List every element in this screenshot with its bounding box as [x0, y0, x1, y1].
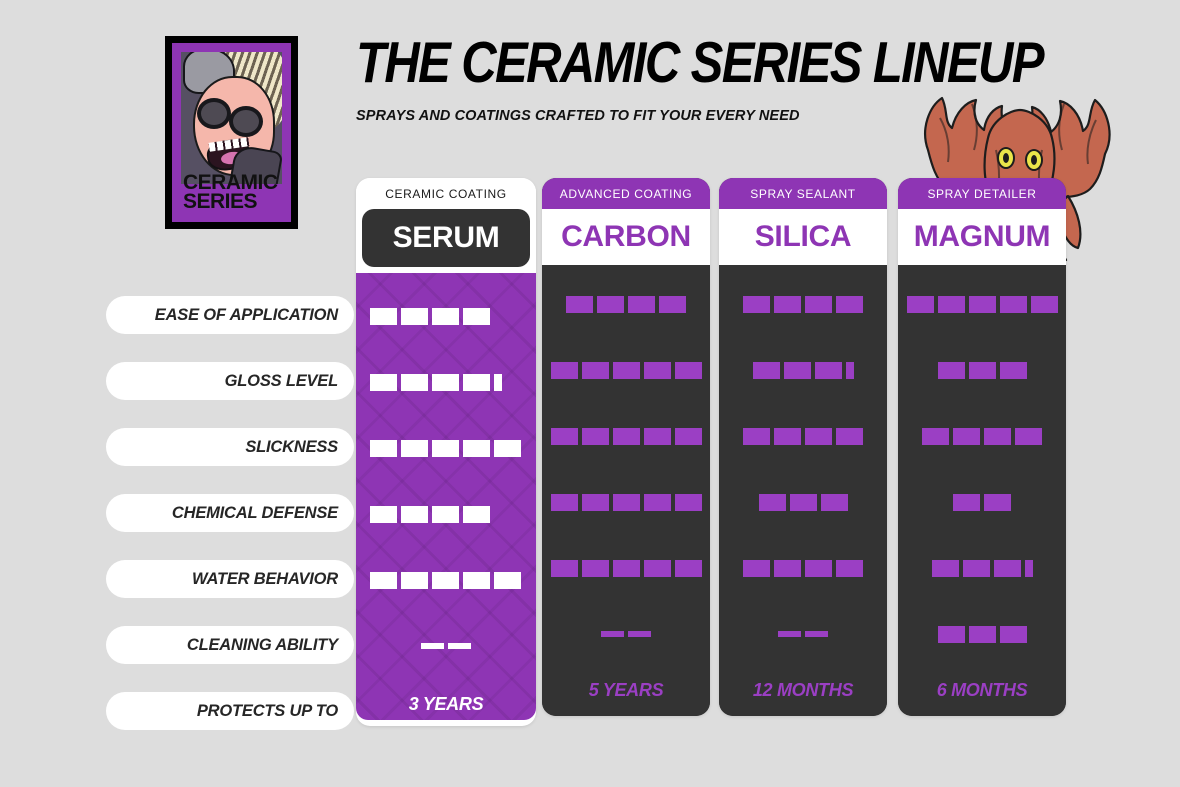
rating-block	[774, 296, 801, 313]
rating-block	[370, 440, 397, 457]
rating-block	[1015, 428, 1042, 445]
rating-block	[805, 560, 832, 577]
rating-block	[836, 428, 863, 445]
rating-block	[401, 374, 428, 391]
product-name-magnum: MAGNUM	[898, 209, 1066, 265]
rating-block	[836, 296, 863, 313]
product-ratings-serum: 3 YEARS	[356, 273, 536, 720]
rating-block	[644, 428, 671, 445]
rating-block	[370, 308, 397, 325]
rating-silica-ease-of-application	[719, 285, 887, 323]
rating-block	[644, 494, 671, 511]
rating-block	[628, 296, 655, 313]
product-name-silica: SILICA	[719, 209, 887, 265]
rating-block	[370, 374, 397, 391]
rating-block	[370, 506, 397, 523]
rating-block	[463, 374, 490, 391]
rating-block	[432, 374, 459, 391]
rating-block	[743, 428, 770, 445]
rating-magnum-water-behavior	[898, 549, 1066, 587]
ceramic-series-badge: CERAMIC SERIES	[165, 36, 298, 229]
rating-magnum-ease-of-application	[898, 285, 1066, 323]
rating-block	[675, 494, 702, 511]
rating-block	[938, 362, 965, 379]
rating-block	[774, 560, 801, 577]
rating-carbon-water-behavior	[542, 549, 710, 587]
rating-block	[675, 428, 702, 445]
rating-block	[759, 494, 786, 511]
rating-block	[963, 560, 990, 577]
rating-block	[613, 362, 640, 379]
attribute-labels: EASE OF APPLICATION GLOSS LEVEL SLICKNES…	[106, 296, 354, 730]
row-label-protects-up-to: PROTECTS UP TO	[106, 692, 354, 730]
row-label-gloss-level: GLOSS LEVEL	[106, 362, 354, 400]
rating-block	[551, 560, 578, 577]
rating-block	[566, 296, 593, 313]
protects-up-to-carbon: 5 YEARS	[542, 671, 710, 709]
rating-carbon-cleaning-ability	[542, 615, 710, 653]
rating-block	[821, 494, 848, 511]
product-card-magnum[interactable]: SPRAY DETAILER MAGNUM 6 MONTHS	[898, 178, 1066, 716]
rating-block	[432, 440, 459, 457]
rating-block	[790, 494, 817, 511]
badge-inner: CERAMIC SERIES	[172, 43, 291, 222]
protects-up-to-magnum: 6 MONTHS	[898, 671, 1066, 709]
row-label-chemical-defense: CHEMICAL DEFENSE	[106, 494, 354, 532]
protects-up-to-serum: 3 YEARS	[356, 685, 536, 723]
rating-block	[1000, 362, 1027, 379]
rating-block	[597, 296, 624, 313]
rating-block	[551, 362, 578, 379]
rating-block	[421, 643, 444, 649]
product-card-silica[interactable]: SPRAY SEALANT SILICA 12 MONTHS	[719, 178, 887, 716]
product-category-serum: CERAMIC COATING	[356, 178, 536, 209]
product-category-silica: SPRAY SEALANT	[719, 178, 887, 209]
rating-carbon-slickness	[542, 417, 710, 455]
rating-block	[1000, 296, 1027, 313]
rating-block	[938, 296, 965, 313]
rating-block	[953, 428, 980, 445]
rating-block	[494, 440, 521, 457]
rating-block	[953, 494, 980, 511]
rating-serum-ease-of-application	[356, 297, 536, 335]
rating-block	[463, 506, 490, 523]
rating-block	[370, 572, 397, 589]
rating-block	[582, 362, 609, 379]
rating-magnum-chemical-defense	[898, 483, 1066, 521]
rating-block	[613, 494, 640, 511]
protects-up-to-silica: 12 MONTHS	[719, 671, 887, 709]
rating-block	[551, 428, 578, 445]
rating-block	[907, 296, 934, 313]
rating-block-partial	[1025, 560, 1033, 577]
rating-block	[836, 560, 863, 577]
rating-silica-cleaning-ability	[719, 615, 887, 653]
rating-magnum-gloss-level	[898, 351, 1066, 389]
rating-block	[743, 296, 770, 313]
rating-block	[628, 631, 651, 637]
rating-silica-slickness	[719, 417, 887, 455]
rating-block	[613, 428, 640, 445]
rating-block	[463, 308, 490, 325]
rating-block	[969, 626, 996, 643]
rating-block	[432, 506, 459, 523]
rating-block-partial	[494, 374, 502, 391]
rating-magnum-slickness	[898, 417, 1066, 455]
product-ratings-carbon: 5 YEARS	[542, 265, 710, 716]
rating-block	[463, 440, 490, 457]
rating-block	[494, 572, 521, 589]
rating-block	[401, 308, 428, 325]
rating-block	[432, 308, 459, 325]
rating-block	[805, 428, 832, 445]
product-category-carbon: ADVANCED COATING	[542, 178, 710, 209]
rating-block-partial	[846, 362, 854, 379]
rating-block	[675, 362, 702, 379]
rating-block	[432, 572, 459, 589]
rating-block	[994, 560, 1021, 577]
rating-block	[401, 440, 428, 457]
row-label-slickness: SLICKNESS	[106, 428, 354, 466]
product-card-carbon[interactable]: ADVANCED COATING CARBON 5 YEARS	[542, 178, 710, 716]
rating-block	[582, 494, 609, 511]
rating-block	[401, 572, 428, 589]
rating-block	[969, 296, 996, 313]
rating-block	[551, 494, 578, 511]
rating-block	[582, 560, 609, 577]
rating-block	[969, 362, 996, 379]
rating-serum-slickness	[356, 429, 536, 467]
row-label-ease-of-application: EASE OF APPLICATION	[106, 296, 354, 334]
rating-block	[601, 631, 624, 637]
rating-block	[805, 296, 832, 313]
rating-carbon-ease-of-application	[542, 285, 710, 323]
rating-block	[984, 494, 1011, 511]
product-ratings-magnum: 6 MONTHS	[898, 265, 1066, 716]
rating-block	[815, 362, 842, 379]
rating-carbon-chemical-defense	[542, 483, 710, 521]
rating-block	[922, 428, 949, 445]
rating-carbon-gloss-level	[542, 351, 710, 389]
rating-block	[743, 560, 770, 577]
rating-block	[644, 560, 671, 577]
badge-label-line2: SERIES	[183, 193, 278, 211]
rating-block	[932, 560, 959, 577]
product-category-magnum: SPRAY DETAILER	[898, 178, 1066, 209]
rating-magnum-cleaning-ability	[898, 615, 1066, 653]
rating-block	[984, 428, 1011, 445]
row-label-water-behavior: WATER BEHAVIOR	[106, 560, 354, 598]
rating-block	[753, 362, 780, 379]
rating-serum-cleaning-ability	[356, 627, 536, 665]
product-ratings-silica: 12 MONTHS	[719, 265, 887, 716]
rating-block	[448, 643, 471, 649]
rating-block	[644, 362, 671, 379]
rating-block	[463, 572, 490, 589]
mascot-illustration	[181, 52, 282, 184]
rating-block	[805, 631, 828, 637]
rating-block	[401, 506, 428, 523]
product-card-serum[interactable]: CERAMIC COATING SERUM 3 YEARS	[356, 178, 536, 726]
rating-block	[675, 560, 702, 577]
rating-block	[659, 296, 686, 313]
rating-block	[784, 362, 811, 379]
rating-block	[1000, 626, 1027, 643]
product-name-carbon: CARBON	[542, 209, 710, 265]
row-label-cleaning-ability: CLEANING ABILITY	[106, 626, 354, 664]
rating-block	[938, 626, 965, 643]
rating-silica-gloss-level	[719, 351, 887, 389]
rating-block	[613, 560, 640, 577]
rating-block	[582, 428, 609, 445]
product-name-serum: SERUM	[362, 209, 530, 267]
rating-silica-water-behavior	[719, 549, 887, 587]
rating-block	[774, 428, 801, 445]
rating-serum-water-behavior	[356, 561, 536, 599]
rating-silica-chemical-defense	[719, 483, 887, 521]
rating-block	[1031, 296, 1058, 313]
rating-block	[778, 631, 801, 637]
rating-serum-gloss-level	[356, 363, 536, 401]
badge-label: CERAMIC SERIES	[183, 174, 278, 211]
rating-serum-chemical-defense	[356, 495, 536, 533]
